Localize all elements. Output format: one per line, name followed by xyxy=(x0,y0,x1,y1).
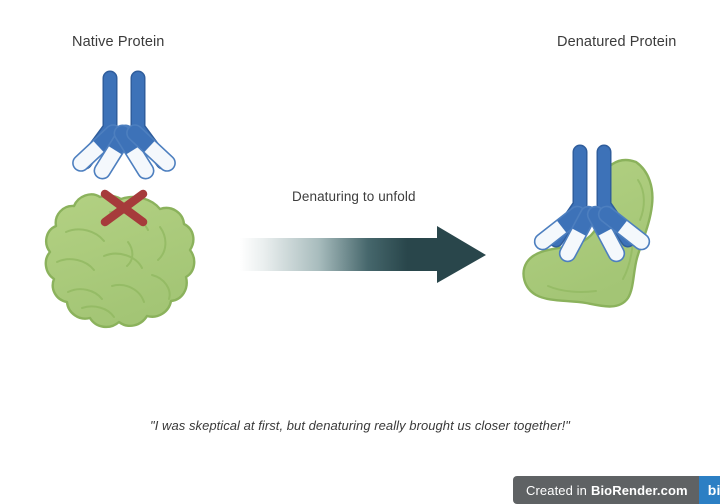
badge-prefix: Created in xyxy=(526,483,587,498)
illustration-canvas: Native Protein Denatured Protein Denatur… xyxy=(0,0,720,504)
antibody-native xyxy=(70,78,179,182)
caption-text: "I was skeptical at first, but denaturin… xyxy=(0,418,720,433)
badge-logo-text: bio xyxy=(708,482,720,498)
badge-brand: BioRender.com xyxy=(591,483,688,498)
biorender-watermark[interactable]: Created in BioRender.com bio xyxy=(513,476,720,504)
biorender-badge-text: Created in BioRender.com xyxy=(513,476,699,504)
denaturing-arrow-icon xyxy=(240,226,486,283)
biorender-logo-icon: bio xyxy=(699,476,720,504)
